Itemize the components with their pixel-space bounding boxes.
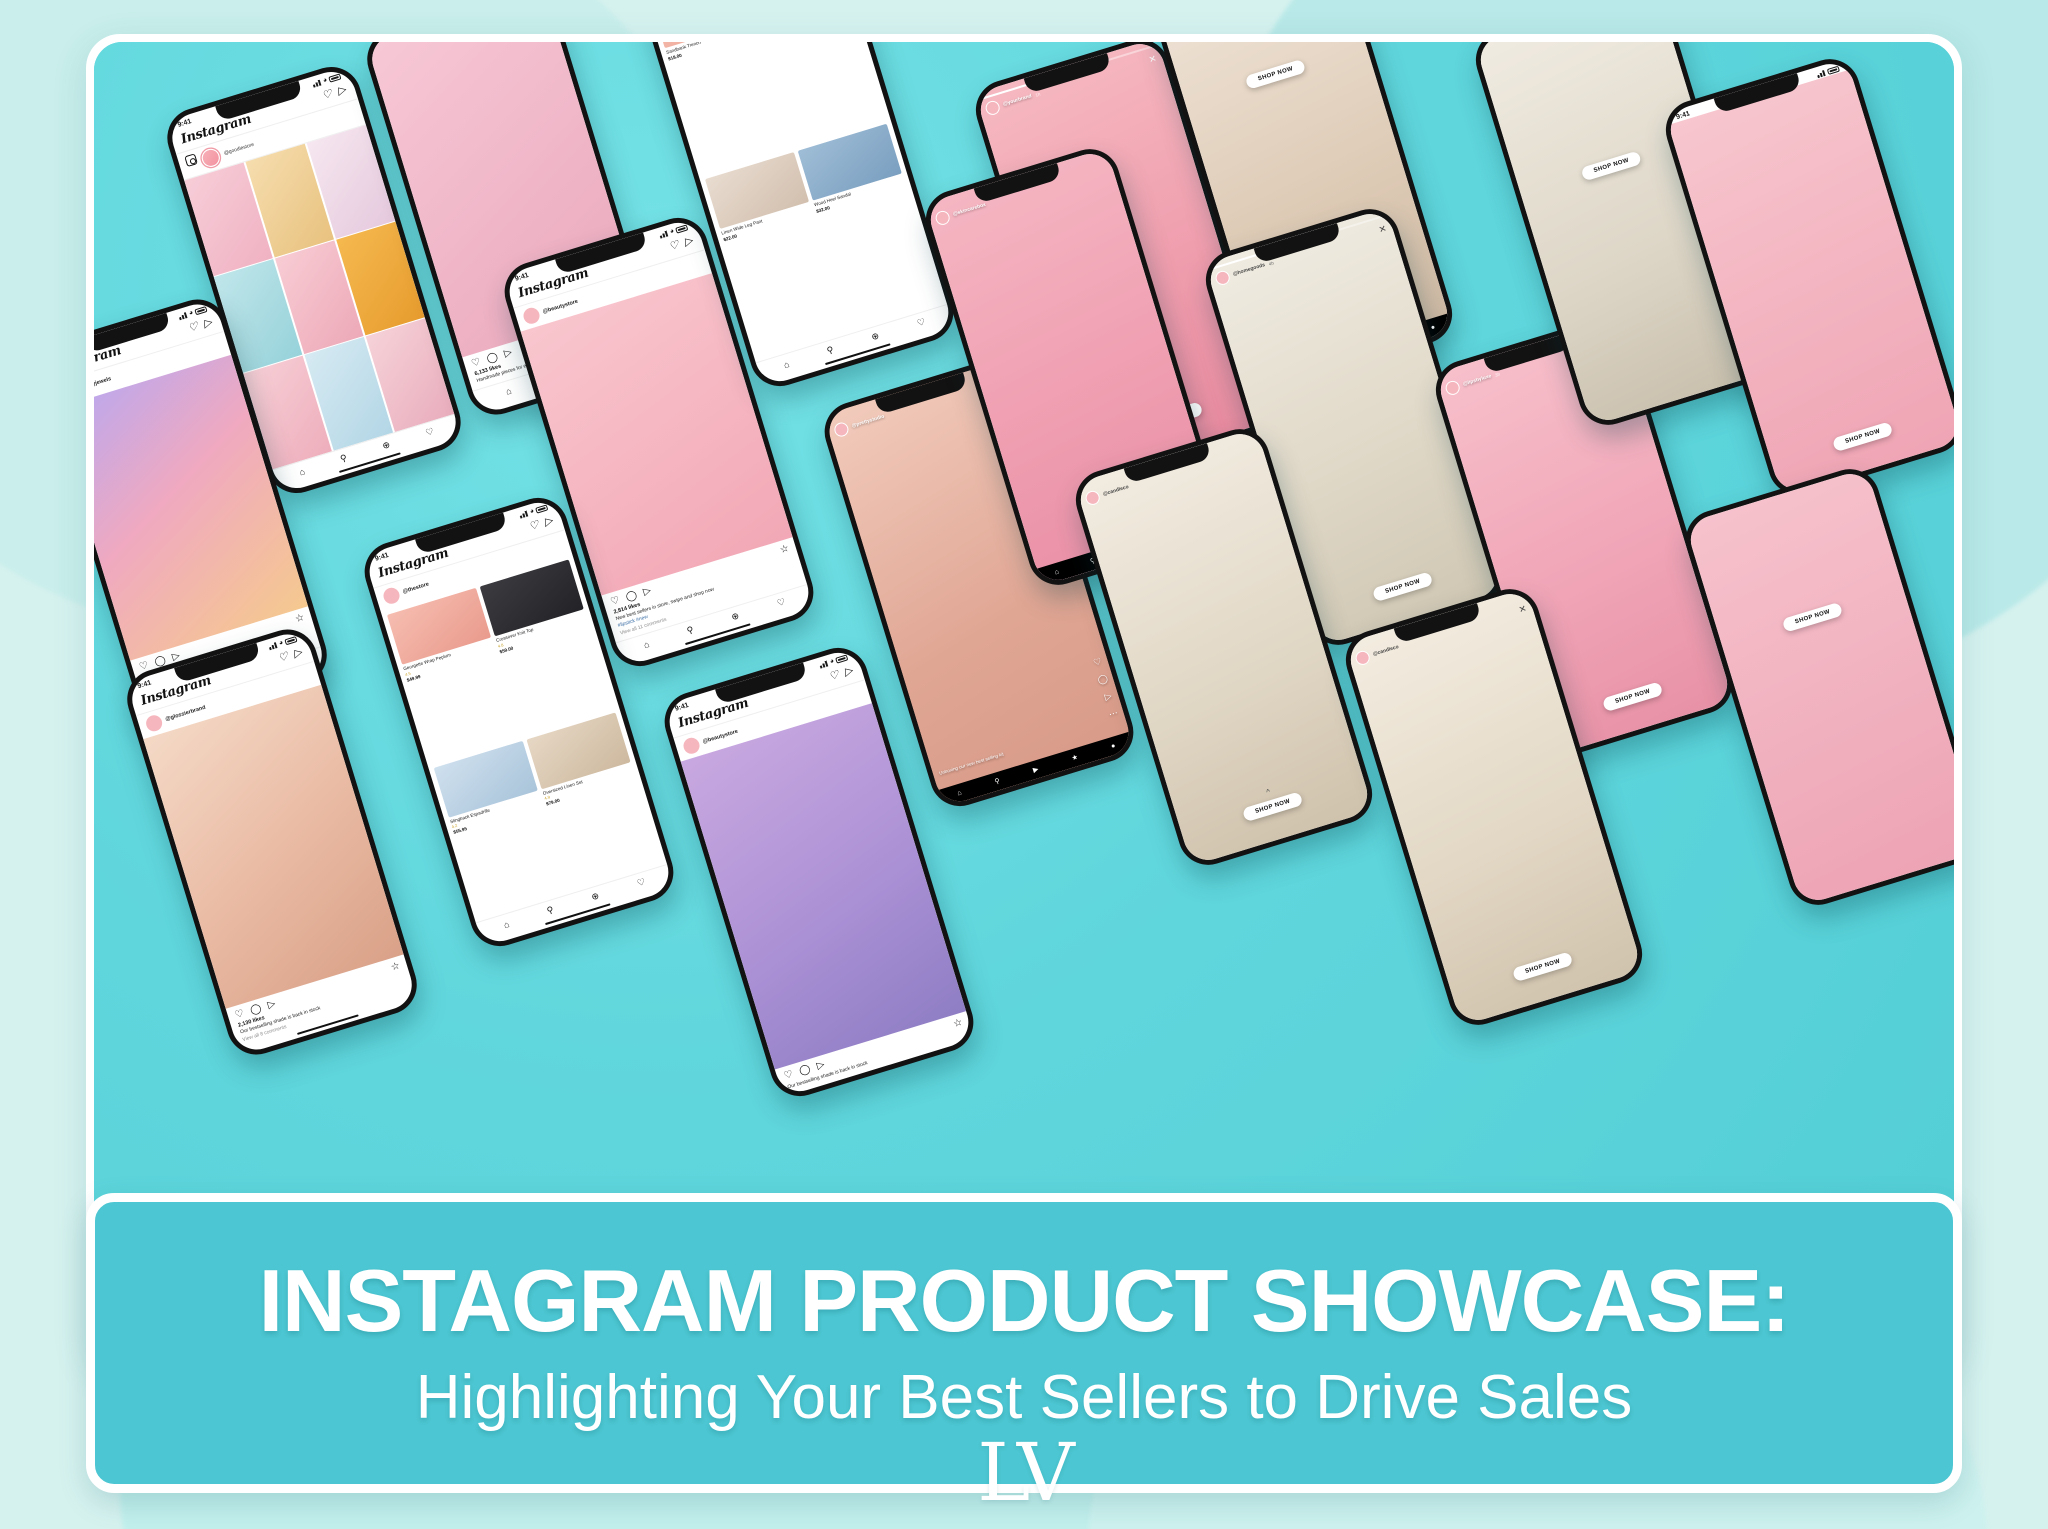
search-icon[interactable]: ⚲ xyxy=(826,344,836,356)
shop-username[interactable]: @thestore xyxy=(402,581,430,595)
battery-icon xyxy=(675,224,688,233)
signal-icon xyxy=(268,641,279,650)
wifi-icon: ◕ xyxy=(669,228,675,236)
avatar[interactable] xyxy=(682,736,702,756)
top-bar-icons: ♡ ▷ xyxy=(187,317,213,335)
story-timestamp: 3h xyxy=(1494,371,1500,377)
add-post-icon[interactable]: ⊕ xyxy=(870,330,880,343)
heart-icon[interactable]: ♡ xyxy=(609,594,621,607)
instagram-feed-screen: 9:41 ◕ Instagram ♡ ▷ xyxy=(126,628,418,1055)
reels-icon[interactable]: ▶ xyxy=(1032,765,1039,774)
top-bar-icons: ♡ ▷ xyxy=(828,666,854,684)
page-title: INSTAGRAM PRODUCT SHOWCASE: xyxy=(259,1257,1790,1345)
more-options-icon[interactable]: ⋯ xyxy=(1107,707,1119,720)
avatar[interactable] xyxy=(382,586,402,606)
wifi-icon: ◕ xyxy=(188,309,194,317)
shop-now-button[interactable]: SHOP NOW xyxy=(1512,951,1574,982)
story-username[interactable]: @candleco xyxy=(1372,644,1399,658)
search-icon[interactable]: ⚲ xyxy=(546,904,556,916)
heart-icon[interactable]: ♡ xyxy=(234,1008,246,1021)
signal-icon xyxy=(178,311,189,320)
bookmark-icon[interactable]: ☆ xyxy=(294,612,306,625)
bookmark-icon[interactable]: ☆ xyxy=(390,961,402,974)
shop-now-button[interactable]: SHOP NOW xyxy=(1580,150,1642,181)
shop-now-button[interactable]: SHOP NOW xyxy=(1245,59,1307,90)
story-content: SHOP NOW xyxy=(1668,69,1954,496)
signal-icon xyxy=(311,78,322,87)
battery-icon xyxy=(835,654,848,663)
avatar[interactable] xyxy=(934,209,951,226)
reel-username[interactable]: @prettystudio xyxy=(851,414,885,430)
post-image[interactable] xyxy=(143,685,403,1009)
shop-now-button[interactable]: SHOP NOW xyxy=(1372,571,1434,602)
story-timestamp: 4h xyxy=(1268,260,1274,266)
reel-side-actions: ♡ ◯ ▷ ⋯ xyxy=(1091,656,1120,721)
close-icon[interactable]: ✕ xyxy=(1148,54,1158,65)
comment-icon[interactable]: ◯ xyxy=(485,351,499,365)
shop-now-button[interactable]: SHOP NOW xyxy=(1602,681,1664,712)
story-username[interactable]: @homegoods xyxy=(1232,262,1266,277)
post-username[interactable]: @glossierbrand xyxy=(165,705,207,723)
shop-now-button[interactable]: SHOP NOW xyxy=(1782,602,1844,633)
direct-message-icon[interactable]: ▷ xyxy=(843,666,854,679)
story-username: @goodiestore xyxy=(223,142,255,157)
add-post-icon[interactable]: ⊕ xyxy=(590,890,600,903)
story-timestamp: 1h xyxy=(1035,91,1041,97)
shop-now-button[interactable]: SHOP NOW xyxy=(1832,421,1894,452)
wifi-icon: ◕ xyxy=(278,639,284,647)
heart-icon[interactable]: ♡ xyxy=(187,321,200,334)
comment-icon[interactable]: ◯ xyxy=(624,589,638,603)
top-bar-icons: ♡ ▷ xyxy=(528,516,554,534)
post-username[interactable]: @prettyjewels xyxy=(94,376,112,393)
home-icon[interactable]: ⌂ xyxy=(298,466,306,477)
comment-icon[interactable]: ◯ xyxy=(249,1003,263,1017)
add-post-icon[interactable]: ⊕ xyxy=(381,439,391,452)
profile-icon[interactable]: ● xyxy=(1430,323,1436,331)
shop-icon[interactable]: ★ xyxy=(1071,753,1079,762)
reel-header: @skincarebox xyxy=(934,161,1108,226)
avatar[interactable] xyxy=(984,99,1001,116)
top-bar-icons: ♡ ▷ xyxy=(277,647,303,665)
close-icon[interactable]: ✕ xyxy=(1378,224,1388,235)
avatar[interactable] xyxy=(1354,649,1371,666)
profile-icon[interactable]: ● xyxy=(1110,742,1116,750)
search-icon[interactable]: ⚲ xyxy=(686,624,696,636)
post-username[interactable]: @beautystore xyxy=(542,299,579,315)
top-bar-icons: ♡ ▷ xyxy=(668,236,694,254)
close-icon[interactable]: ✕ xyxy=(1518,604,1528,615)
heart-icon[interactable]: ♡ xyxy=(783,1069,795,1082)
bookmark-icon[interactable]: ☆ xyxy=(778,542,790,555)
avatar[interactable] xyxy=(1214,269,1231,286)
bookmark-icon[interactable]: ☆ xyxy=(952,1017,964,1030)
direct-message-icon[interactable]: ▷ xyxy=(336,85,347,98)
search-icon[interactable]: ⚲ xyxy=(339,452,349,464)
direct-message-icon[interactable]: ▷ xyxy=(683,236,694,249)
battery-icon xyxy=(284,636,297,645)
search-icon[interactable]: ⚲ xyxy=(994,777,1001,786)
avatar[interactable] xyxy=(522,306,542,326)
story-username[interactable]: @yourbrand xyxy=(1002,93,1032,107)
signal-icon xyxy=(658,229,669,238)
comment-icon[interactable]: ◯ xyxy=(798,1064,812,1078)
reel-username[interactable]: @skincarebox xyxy=(952,202,986,218)
battery-icon xyxy=(535,504,548,513)
signal-icon xyxy=(518,509,529,518)
chevron-up-icon: ^ xyxy=(1265,787,1271,797)
story-username[interactable]: @candleco xyxy=(1102,484,1129,498)
heart-icon[interactable]: ♡ xyxy=(828,670,841,683)
home-icon[interactable]: ⌂ xyxy=(782,358,790,369)
camera-icon[interactable] xyxy=(184,153,198,167)
heart-icon[interactable]: ♡ xyxy=(916,316,927,329)
direct-message-icon[interactable]: ▷ xyxy=(292,647,303,660)
post-username[interactable]: @beautystore xyxy=(702,729,739,745)
avatar[interactable] xyxy=(833,421,850,438)
add-post-icon[interactable]: ⊕ xyxy=(730,610,740,623)
home-icon[interactable]: ⌂ xyxy=(956,789,962,797)
heart-icon[interactable]: ♡ xyxy=(1092,656,1103,669)
page-subtitle: Highlighting Your Best Sellers to Drive … xyxy=(416,1367,1633,1429)
heart-icon[interactable]: ♡ xyxy=(321,89,334,102)
story-avatar[interactable] xyxy=(200,147,222,169)
hero-card-inner: 9:41 ◕ Instagram ♡ ▷ xyxy=(94,42,1954,1360)
heart-icon[interactable]: ♡ xyxy=(470,357,482,370)
phone-mockup-feed-bottom-left: 9:41 ◕ Instagram ♡ ▷ xyxy=(120,622,424,1062)
story-username[interactable]: @lipsbyluxe xyxy=(1462,373,1492,387)
home-icon[interactable]: ⌂ xyxy=(642,638,650,649)
share-icon[interactable]: ▷ xyxy=(503,347,514,360)
share-icon[interactable]: ▷ xyxy=(1103,690,1113,703)
share-icon[interactable]: ▷ xyxy=(266,999,277,1012)
heart-icon[interactable]: ♡ xyxy=(528,520,541,533)
top-bar-icons: ♡ ▷ xyxy=(321,85,347,103)
story-header: @yourbrand 1h ✕ xyxy=(984,51,1158,116)
heart-icon[interactable]: ♡ xyxy=(668,240,681,253)
wifi-icon: ◕ xyxy=(529,508,535,516)
home-icon[interactable]: ⌂ xyxy=(1054,568,1060,576)
shop-now-button[interactable]: SHOP NOW xyxy=(1242,791,1304,822)
heart-icon[interactable]: ♡ xyxy=(277,651,290,664)
avatar[interactable] xyxy=(1444,379,1461,396)
logo-monogram: LV xyxy=(0,1433,2048,1513)
share-icon[interactable]: ▷ xyxy=(642,585,653,598)
home-icon[interactable]: ⌂ xyxy=(502,918,510,929)
direct-message-icon[interactable]: ▷ xyxy=(202,317,213,330)
wifi-icon: ◕ xyxy=(322,77,328,85)
wifi-icon: ◕ xyxy=(829,658,835,666)
hero-card: 9:41 ◕ Instagram ♡ ▷ xyxy=(86,34,1962,1368)
signal-icon xyxy=(1816,69,1827,78)
battery-icon xyxy=(1827,65,1840,74)
comment-icon[interactable]: ◯ xyxy=(1096,673,1109,686)
share-icon[interactable]: ▷ xyxy=(815,1059,826,1072)
heart-icon[interactable]: ♡ xyxy=(776,596,787,609)
signal-icon xyxy=(818,659,829,668)
brand-logo: LV xyxy=(0,1433,2048,1513)
avatar[interactable] xyxy=(1084,489,1101,506)
battery-icon xyxy=(328,73,341,82)
home-icon[interactable]: ⌂ xyxy=(504,385,512,396)
heart-icon[interactable]: ♡ xyxy=(636,876,647,889)
battery-icon xyxy=(194,306,207,315)
direct-message-icon[interactable]: ▷ xyxy=(543,516,554,529)
heart-icon[interactable]: ♡ xyxy=(424,426,435,439)
phone-collage: 9:41 ◕ Instagram ♡ ▷ xyxy=(94,42,1954,1360)
avatar[interactable] xyxy=(144,713,164,733)
